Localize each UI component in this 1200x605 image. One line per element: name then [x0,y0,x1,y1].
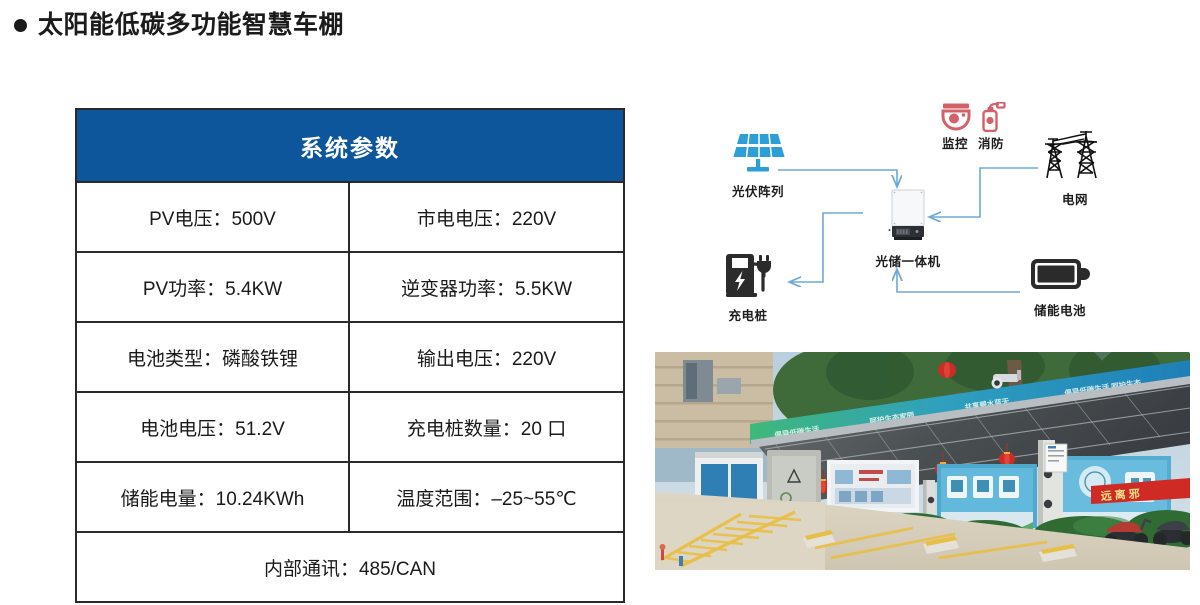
node-label-battery: 储能电池 [1000,300,1120,319]
table-cell-battery-type: 电池类型：磷酸铁锂 [77,323,350,391]
table-row: PV电压：500V 市电电压：220V [77,183,623,253]
table-cell-charger-count: 充电桩数量：20 口 [350,393,623,461]
safety-icons-row [928,102,1018,132]
table-cell-internal-comm: 内部通讯：485/CAN [77,533,623,601]
system-flow-diagram: 光伏阵列 光储一体机 [650,100,1190,350]
node-label-fire: 消防 [978,133,1004,152]
solar-panel-icon [730,132,786,174]
table-cell-inverter-power: 逆变器功率：5.5KW [350,253,623,321]
hybrid-inverter-icon [884,188,932,244]
table-cell-storage-capacity: 储能电量：10.24KWh [77,463,350,531]
table-cell-pv-voltage: PV电压：500V [77,183,350,251]
title-bullet-icon [14,19,27,32]
table-cell-temp-range: 温度范围：–25~55℃ [350,463,623,531]
site-photo: 倡导低碳生活 呵护生态家园 共享碧水蓝天 倡导低碳生活 呵护生态 [655,352,1190,570]
table-cell-pv-power: PV功率：5.4KW [77,253,350,321]
table-cell-mains-voltage: 市电电压：220V [350,183,623,251]
diagram-node-safety-group: 监控 消防 [928,102,1018,152]
node-label-grid: 电网 [1020,189,1130,208]
diagram-node-charging-pile: 充电桩 [698,250,798,324]
table-header: 系统参数 [77,110,623,183]
table-row: PV功率：5.4KW 逆变器功率：5.5KW [77,253,623,323]
table-row: 储能电量：10.24KWh 温度范围：–25~55℃ [77,463,623,533]
fire-extinguisher-icon [978,102,1006,132]
node-label-inverter: 光储一体机 [848,251,968,270]
table-row: 电池类型：磷酸铁锂 输出电压：220V [77,323,623,393]
system-parameters-table: 系统参数 PV电压：500V 市电电压：220V PV功率：5.4KW 逆变器功… [75,108,625,603]
diagram-node-battery: 储能电池 [1000,255,1120,319]
diagram-node-grid: 电网 [1020,130,1130,208]
node-label-pv-array: 光伏阵列 [708,181,808,200]
table-cell-output-voltage: 输出电压：220V [350,323,623,391]
site-photo-image: 倡导低碳生活 呵护生态家园 共享碧水蓝天 倡导低碳生活 呵护生态 [655,352,1190,570]
charging-pile-icon [723,250,773,298]
power-tower-icon [1042,130,1108,182]
cctv-camera-icon [940,102,972,132]
page-title: 太阳能低碳多功能智慧车棚 [38,12,344,40]
node-label-monitor: 监控 [942,133,968,152]
safety-labels-row: 监控 消防 [928,133,1018,152]
diagram-node-pv-array: 光伏阵列 [708,132,808,200]
table-row: 电池电压：51.2V 充电桩数量：20 口 [77,393,623,463]
node-label-charging-pile: 充电桩 [698,305,798,324]
diagram-node-inverter: 光储一体机 [848,188,968,270]
table-cell-battery-voltage: 电池电压：51.2V [77,393,350,461]
table-row: 内部通讯：485/CAN [77,533,623,601]
battery-icon [1029,255,1091,293]
page-title-row: 太阳能低碳多功能智慧车棚 [14,12,344,40]
